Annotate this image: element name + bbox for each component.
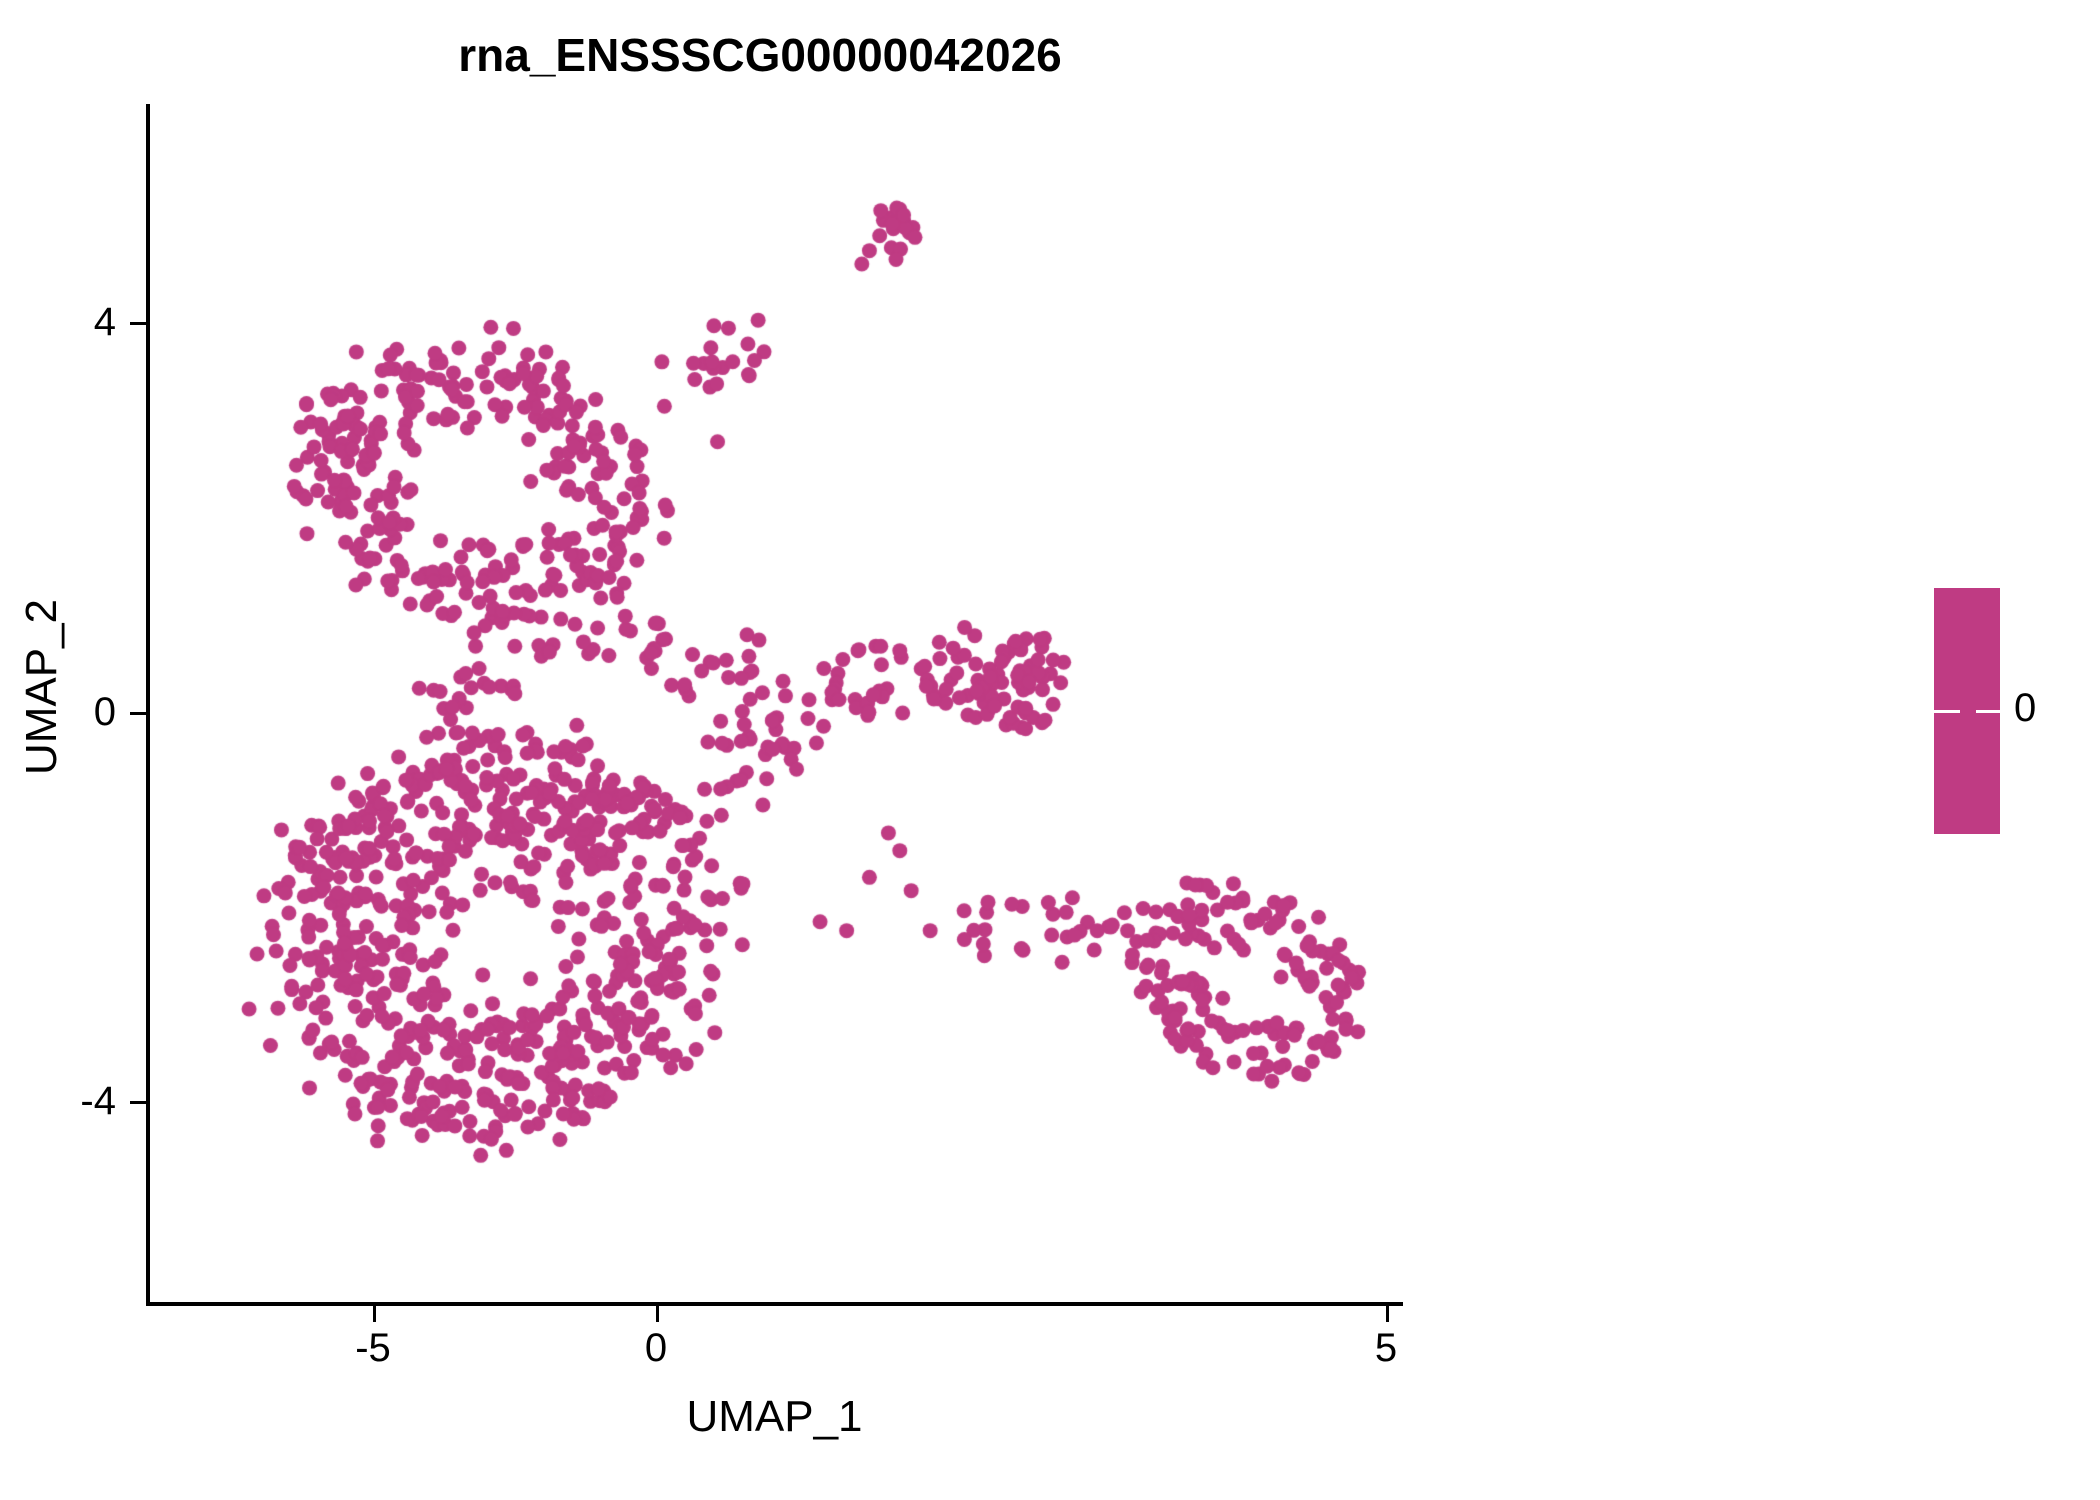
y-tick-label-4: 4: [20, 300, 116, 345]
y-tick-mark-minus-4: [130, 1101, 146, 1104]
x-axis-title: UMAP_1: [146, 1392, 1403, 1442]
plot-panel: [148, 104, 1401, 1304]
page-title: rna_ENSSSCG00000042026: [0, 28, 1520, 82]
x-tick-mark-minus-5: [373, 1306, 376, 1322]
x-axis-line: [146, 1302, 1403, 1306]
x-tick-label-5: 5: [1296, 1326, 1476, 1371]
y-axis-line: [146, 104, 150, 1304]
legend-colorbar-group: 0: [1934, 588, 2084, 908]
umap-feature-plot: rna_ENSSSCG00000042026 4 0 -4 -5 0 5 UMA…: [0, 0, 2100, 1500]
colorbar-tick-gap: [1960, 708, 1976, 715]
y-tick-mark-4: [130, 322, 146, 325]
x-tick-label-minus-5: -5: [283, 1326, 463, 1371]
x-tick-mark-0: [656, 1306, 659, 1322]
y-tick-mark-0: [130, 712, 146, 715]
x-tick-mark-5: [1386, 1306, 1389, 1322]
colorbar-gradient: [1934, 588, 2000, 834]
scatter-canvas: [148, 104, 1401, 1304]
y-tick-label-minus-4: -4: [20, 1079, 116, 1124]
y-axis-title: UMAP_2: [17, 457, 67, 917]
x-tick-label-0: 0: [566, 1326, 746, 1371]
colorbar-tick-label: 0: [2014, 686, 2036, 731]
